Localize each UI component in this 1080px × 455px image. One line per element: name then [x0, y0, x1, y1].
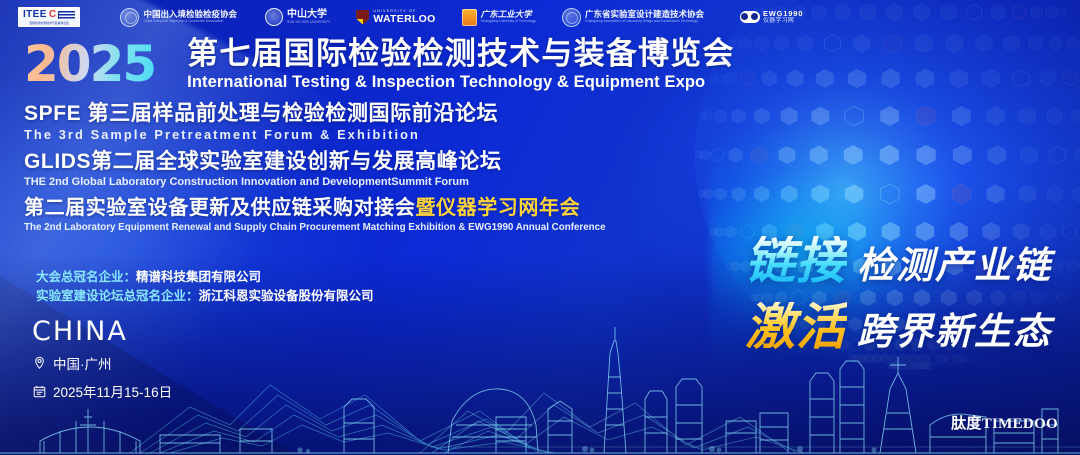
- location-date-row: 2025年11月15-16日: [32, 381, 172, 401]
- logo-gdut[interactable]: 广东工业大学 Guangdong University of Technolog…: [462, 9, 536, 26]
- country-label: CHINA: [32, 318, 172, 345]
- logo-ciqa-cn: 中国出入境检验检疫协会: [143, 10, 237, 19]
- event-title-cn: 第七届国际检验检测技术与装备博览会: [187, 38, 734, 69]
- logo-sysu[interactable]: 中山大学 SUN YAT-SEN UNIVERSITY: [265, 8, 330, 26]
- forum-equipment-renewal-cn: 第二届实验室设备更新及供应链采购对接会暨仪器学习网年会: [24, 198, 724, 218]
- sponsor-line-main: 大会总冠名企业：精谱科技集团有限公司: [36, 268, 374, 287]
- forum-spfe: SPFE 第三届样品前处理与检验检测国际前沿论坛 The 3rd Sample …: [24, 103, 724, 142]
- event-year: 2025: [24, 39, 159, 89]
- logo-ewg-num: EWG1990: [763, 10, 803, 18]
- location-pin-icon: [32, 356, 46, 370]
- slogan-line2-rest: 跨界新生态: [857, 313, 1052, 350]
- forum-equipment-renewal-en: The 2nd Laboratory Equipment Renewal and…: [24, 223, 724, 233]
- slogan-line2-accent: 激活: [745, 302, 847, 352]
- sponsor-main-label: 大会总冠名企业：: [36, 270, 136, 284]
- logo-ciqa-en: China Entry-Exit Inspection & Quarantine…: [143, 20, 237, 23]
- forum-equipment-renewal-cn-gold: 暨仪器学习网年会: [415, 197, 580, 219]
- main-title-row: 2025 第七届国际检验检测技术与装备博览会 International Tes…: [24, 38, 724, 91]
- partner-logo-strip: ITEEC 国际检验检测技术与装备博览会 中国出入境检验检疫协会 China E…: [0, 0, 1080, 34]
- event-title-en: International Testing & Inspection Techn…: [187, 74, 734, 91]
- logo-waterloo-big: WATERLOO: [373, 14, 435, 25]
- logo-galdct-en: Guangdong Association of Laboratory Desi…: [585, 20, 704, 23]
- slogan-line-1: 链接 检测产业链: [745, 236, 1052, 286]
- iteec-logo-icon: ITEEC 国际检验检测技术与装备博览会: [18, 7, 80, 27]
- association-seal-icon: [120, 8, 139, 27]
- logo-iteec[interactable]: ITEEC 国际检验检测技术与装备博览会: [18, 7, 80, 27]
- logo-sysu-cn: 中山大学: [287, 10, 330, 20]
- logo-ewg1990[interactable]: EWG1990 仪器学习网: [740, 10, 803, 24]
- logo-gdut-en: Guangdong University of Technology: [481, 20, 536, 23]
- wave-mountains-decoration: [120, 345, 860, 455]
- location-place-row: 中国·广州: [32, 353, 172, 373]
- forum-spfe-en: The 3rd Sample Pretreatment Forum & Exhi…: [24, 129, 724, 142]
- slogan-block: 链接 检测产业链 激活 跨界新生态: [745, 236, 1052, 352]
- logo-ewg-cn: 仪器学习网: [763, 18, 803, 24]
- sponsor-main-name: 精谱科技集团有限公司: [136, 270, 261, 284]
- title-block: 2025 第七届国际检验检测技术与装备博览会 International Tes…: [24, 38, 724, 233]
- logo-iteec-sub: 国际检验检测技术与装备博览会: [30, 21, 69, 25]
- gdut-seal-icon: [462, 9, 477, 26]
- sponsor-block: 大会总冠名企业：精谱科技集团有限公司 实验室建设论坛总冠名企业：浙江科恩实验设备…: [36, 268, 374, 307]
- logo-gdut-cn: 广东工业大学: [481, 10, 536, 19]
- sponsor-forum-label: 实验室建设论坛总冠名企业：: [36, 289, 199, 303]
- lab-association-seal-icon: [562, 8, 581, 27]
- sponsor-forum-name: 浙江科恩实验设备股份有限公司: [199, 289, 374, 303]
- forum-equipment-renewal: 第二届实验室设备更新及供应链采购对接会暨仪器学习网年会 The 2nd Labo…: [24, 198, 724, 233]
- event-poster: ITEEC 国际检验检测技术与装备博览会 中国出入境检验检疫协会 China E…: [0, 0, 1080, 455]
- logo-ciqa[interactable]: 中国出入境检验检疫协会 China Entry-Exit Inspection …: [120, 8, 237, 27]
- slogan-line-2: 激活 跨界新生态: [745, 302, 1052, 352]
- forum-glids: GLIDS第二届全球实验室建设创新与发展高峰论坛 THE 2nd Global …: [24, 151, 724, 188]
- ewg-glasses-icon: [740, 11, 760, 23]
- forum-equipment-renewal-cn-white: 第二届实验室设备更新及供应链采购对接会: [24, 197, 415, 219]
- forum-glids-cn: GLIDS第二届全球实验室建设创新与发展高峰论坛: [24, 151, 724, 172]
- waterloo-shield-icon: [356, 10, 369, 25]
- location-date-text: 2025年11月15-16日: [53, 381, 172, 401]
- logo-galdct[interactable]: 广东省实验室设计建造技术协会 Guangdong Association of …: [562, 8, 704, 27]
- forum-spfe-cn: SPFE 第三届样品前处理与检验检测国际前沿论坛: [24, 103, 724, 124]
- calendar-icon: [32, 384, 46, 398]
- logo-galdct-cn: 广东省实验室设计建造技术协会: [585, 10, 704, 19]
- forum-glids-en: THE 2nd Global Laboratory Construction I…: [24, 177, 724, 188]
- slogan-line1-accent: 链接: [745, 236, 847, 286]
- location-place-text: 中国·广州: [53, 353, 112, 373]
- location-block: CHINA 中国·广州 2025年11月15-16日: [32, 318, 172, 401]
- logo-sysu-en: SUN YAT-SEN UNIVERSITY: [287, 21, 330, 24]
- watermark: 肽度TIMEDOO: [951, 412, 1058, 433]
- logo-waterloo[interactable]: UNIVERSITY OF WATERLOO: [356, 10, 435, 25]
- sponsor-line-forum: 实验室建设论坛总冠名企业：浙江科恩实验设备股份有限公司: [36, 287, 374, 306]
- slogan-line1-rest: 检测产业链: [857, 247, 1052, 284]
- university-seal-icon: [265, 8, 283, 26]
